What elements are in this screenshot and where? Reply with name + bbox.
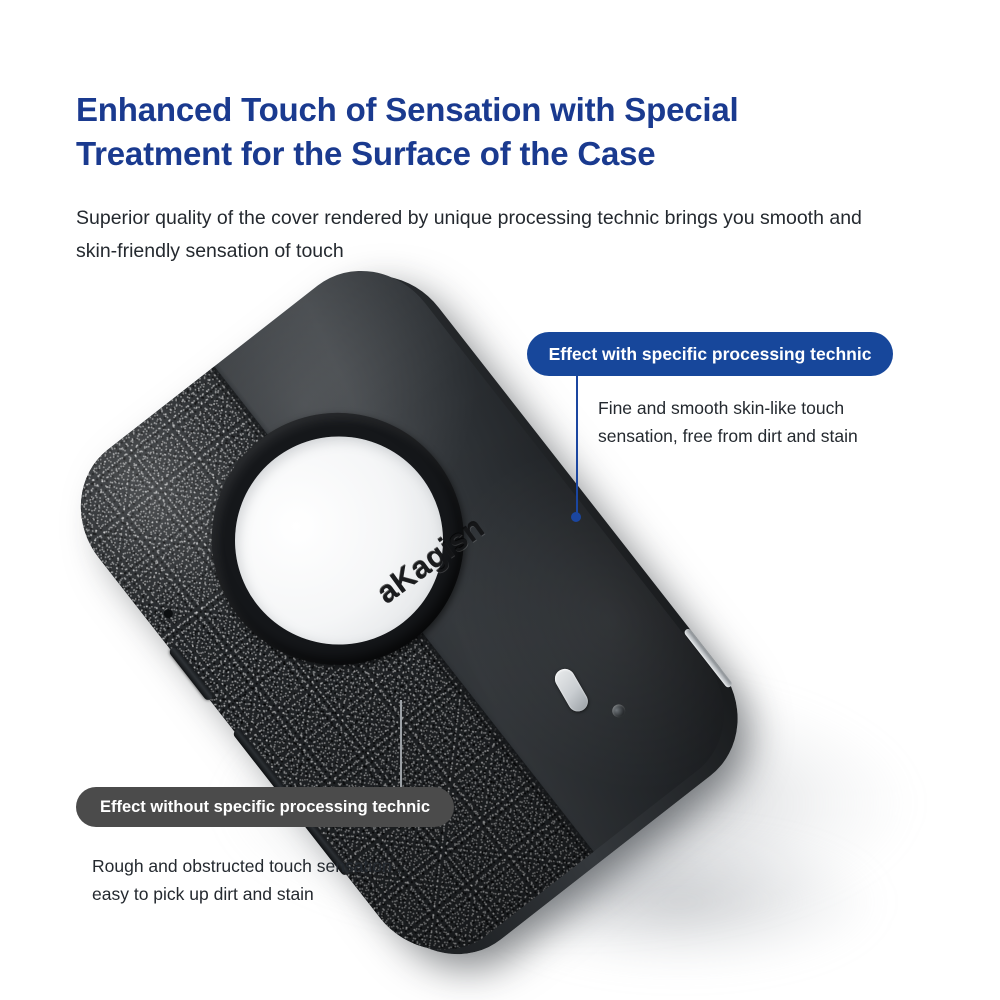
badge-untreated-label: Effect without specific processing techn…: [100, 798, 430, 817]
treated-leader-endpoint: [571, 512, 581, 522]
power-button-cover: [168, 646, 214, 702]
badge-untreated: Effect without specific processing techn…: [76, 787, 454, 827]
brand-logo: aKagisn: [370, 509, 492, 611]
treated-leader-line: [576, 376, 578, 518]
microphone-hole: [610, 702, 628, 720]
flash-cutout: [551, 665, 591, 715]
treated-description: Fine and smooth skin-like touch sensatio…: [598, 394, 908, 450]
texture-transition-seam: [211, 363, 597, 854]
speaker-cutout: [683, 628, 733, 689]
untreated-description: Rough and obstructed touch sensation , e…: [92, 852, 422, 908]
treated-description-line-2: sensation, free from dirt and stain: [598, 422, 908, 450]
page-title: Enhanced Touch of Sensation with Special…: [76, 88, 876, 176]
product-floor-shadow-secondary: [420, 830, 940, 1000]
camera-cutout-hole: [193, 395, 485, 687]
camera-cutout-ring: [161, 362, 515, 716]
untreated-leader-line: [400, 700, 402, 788]
page-subtitle: Superior quality of the cover rendered b…: [76, 202, 882, 268]
product-feature-page: Enhanced Touch of Sensation with Special…: [0, 0, 1000, 1000]
untreated-description-line-2: easy to pick up dirt and stain: [92, 880, 422, 908]
badge-treated: Effect with specific processing technic: [527, 332, 893, 376]
badge-treated-label: Effect with specific processing technic: [549, 344, 872, 365]
untreated-description-line-1: Rough and obstructed touch sensation ,: [92, 852, 422, 880]
treated-description-line-1: Fine and smooth skin-like touch: [598, 394, 908, 422]
side-pinhole: [162, 607, 175, 620]
